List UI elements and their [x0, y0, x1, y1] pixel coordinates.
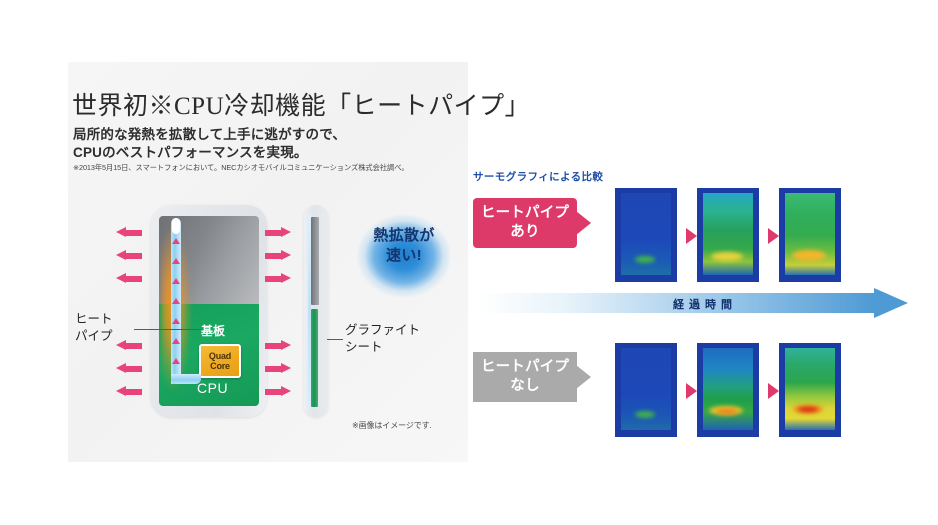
heat-out-arrow-icon — [265, 363, 291, 374]
heat-out-arrow-icon — [116, 363, 142, 374]
callout-heat-pipe: ヒート パイプ — [75, 311, 135, 345]
pipe-flow-arrow-icon — [172, 258, 180, 264]
step-arrow-icon — [686, 228, 697, 244]
callout-graphite-leader-line — [327, 339, 343, 340]
badge-with-line-1: ヒートパイプ — [481, 204, 569, 223]
pipe-flow-arrow-icon — [172, 338, 180, 344]
pipe-flow-arrow-icon — [172, 358, 180, 364]
callout-heat-pipe-line-2: パイプ — [75, 328, 135, 345]
thermal-image-without-step-2 — [697, 343, 759, 437]
heat-out-arrow-icon — [116, 273, 142, 284]
footnote: ※2013年5月15日、スマートフォンにおいて。NECカシオモバイルコミュニケー… — [73, 163, 463, 173]
thermal-image-with-step-1 — [615, 188, 677, 282]
thermal-image-without-step-1 — [615, 343, 677, 437]
heat-out-arrow-icon — [265, 227, 291, 238]
cpu-label: CPU — [197, 380, 228, 396]
elapsed-time-arrow: 経過時間 — [478, 289, 908, 317]
heat-out-arrow-icon — [116, 250, 142, 261]
badge-with-line-2: あり — [510, 223, 539, 242]
phone-front-diagram: 基板 Quad Core CPU — [151, 205, 267, 417]
heat-out-arrow-icon — [116, 227, 142, 238]
image-disclaimer: ※画像はイメージです. — [352, 420, 432, 431]
elapsed-time-label: 経過時間 — [673, 296, 737, 312]
thermal-hotspot — [792, 250, 826, 261]
badge-with-heatpipe-pointer — [576, 211, 591, 235]
badge-without-line-2: なし — [510, 377, 539, 396]
page-title: 世界初※CPU冷却機能「ヒートパイプ」 — [72, 86, 462, 122]
thermography-section-title: サーモグラフィによる比較 — [473, 169, 603, 184]
badge-with-heatpipe: ヒートパイプ あり — [473, 198, 577, 248]
pcb-label: 基板 — [201, 322, 225, 339]
thermal-hotspot-core — [798, 407, 818, 412]
step-arrow-icon — [686, 383, 697, 399]
pipe-flow-arrow-icon — [172, 298, 180, 304]
callout-graphite-sheet: グラファイト シート — [345, 322, 435, 356]
graphite-sheet — [311, 309, 318, 407]
pipe-flow-arrow-icon — [172, 278, 180, 284]
heat-spread-line-1: 熱拡散が — [350, 226, 458, 246]
thermal-image-with-step-2 — [697, 188, 759, 282]
thermal-hotspot — [635, 411, 655, 418]
chip-label-line-2: Core — [210, 361, 230, 371]
thermal-hotspot — [635, 256, 655, 263]
pipe-flow-arrow-icon — [172, 238, 180, 244]
phone-front-inner: 基板 Quad Core CPU — [159, 216, 259, 406]
elapsed-time-arrow-head-icon — [874, 288, 908, 318]
heat-out-arrow-icon — [265, 250, 291, 261]
badge-without-heatpipe: ヒートパイプ なし — [473, 352, 577, 402]
thermal-body — [785, 348, 835, 430]
thermal-body — [785, 193, 835, 275]
badge-without-line-1: ヒートパイプ — [481, 358, 569, 377]
heat-spread-badge-text: 熱拡散が 速い! — [350, 226, 458, 266]
heat-out-arrow-icon — [265, 273, 291, 284]
phone-side-diagram — [304, 205, 328, 417]
subtitle-line-2: CPUのベストパフォーマンスを実現。 — [73, 141, 453, 161]
heat-pipe-horizontal — [171, 374, 201, 384]
badge-without-heatpipe-pointer — [576, 365, 591, 389]
infographic-stage: 世界初※CPU冷却機能「ヒートパイプ」 局所的な発熱を拡散して上手に逃がすので、… — [0, 0, 938, 525]
heat-out-arrow-icon — [265, 386, 291, 397]
pipe-flow-arrow-icon — [172, 318, 180, 324]
quad-core-chip: Quad Core — [199, 344, 241, 378]
phone-side-screen — [311, 217, 319, 305]
step-arrow-icon — [768, 228, 779, 244]
heat-out-arrow-icon — [265, 340, 291, 351]
thermal-body — [703, 193, 753, 275]
chip-label-line-1: Quad — [209, 351, 231, 361]
heat-pipe-tip — [172, 218, 180, 234]
thermal-hotspot — [711, 252, 743, 261]
step-arrow-icon — [768, 383, 779, 399]
thermal-body — [703, 348, 753, 430]
callout-graphite-line-1: グラファイト — [345, 322, 435, 339]
thermal-image-without-step-3 — [779, 343, 841, 437]
heat-spread-line-2: 速い! — [350, 246, 458, 266]
heat-out-arrow-icon — [116, 386, 142, 397]
subtitle-line-1: 局所的な発熱を拡散して上手に逃がすので、 — [73, 123, 453, 143]
thermal-image-with-step-3 — [779, 188, 841, 282]
callout-heat-pipe-line-1: ヒート — [75, 311, 135, 328]
thermal-hotspot-core — [716, 409, 738, 414]
callout-heat-pipe-leader-line — [134, 329, 202, 330]
callout-graphite-line-2: シート — [345, 339, 435, 356]
